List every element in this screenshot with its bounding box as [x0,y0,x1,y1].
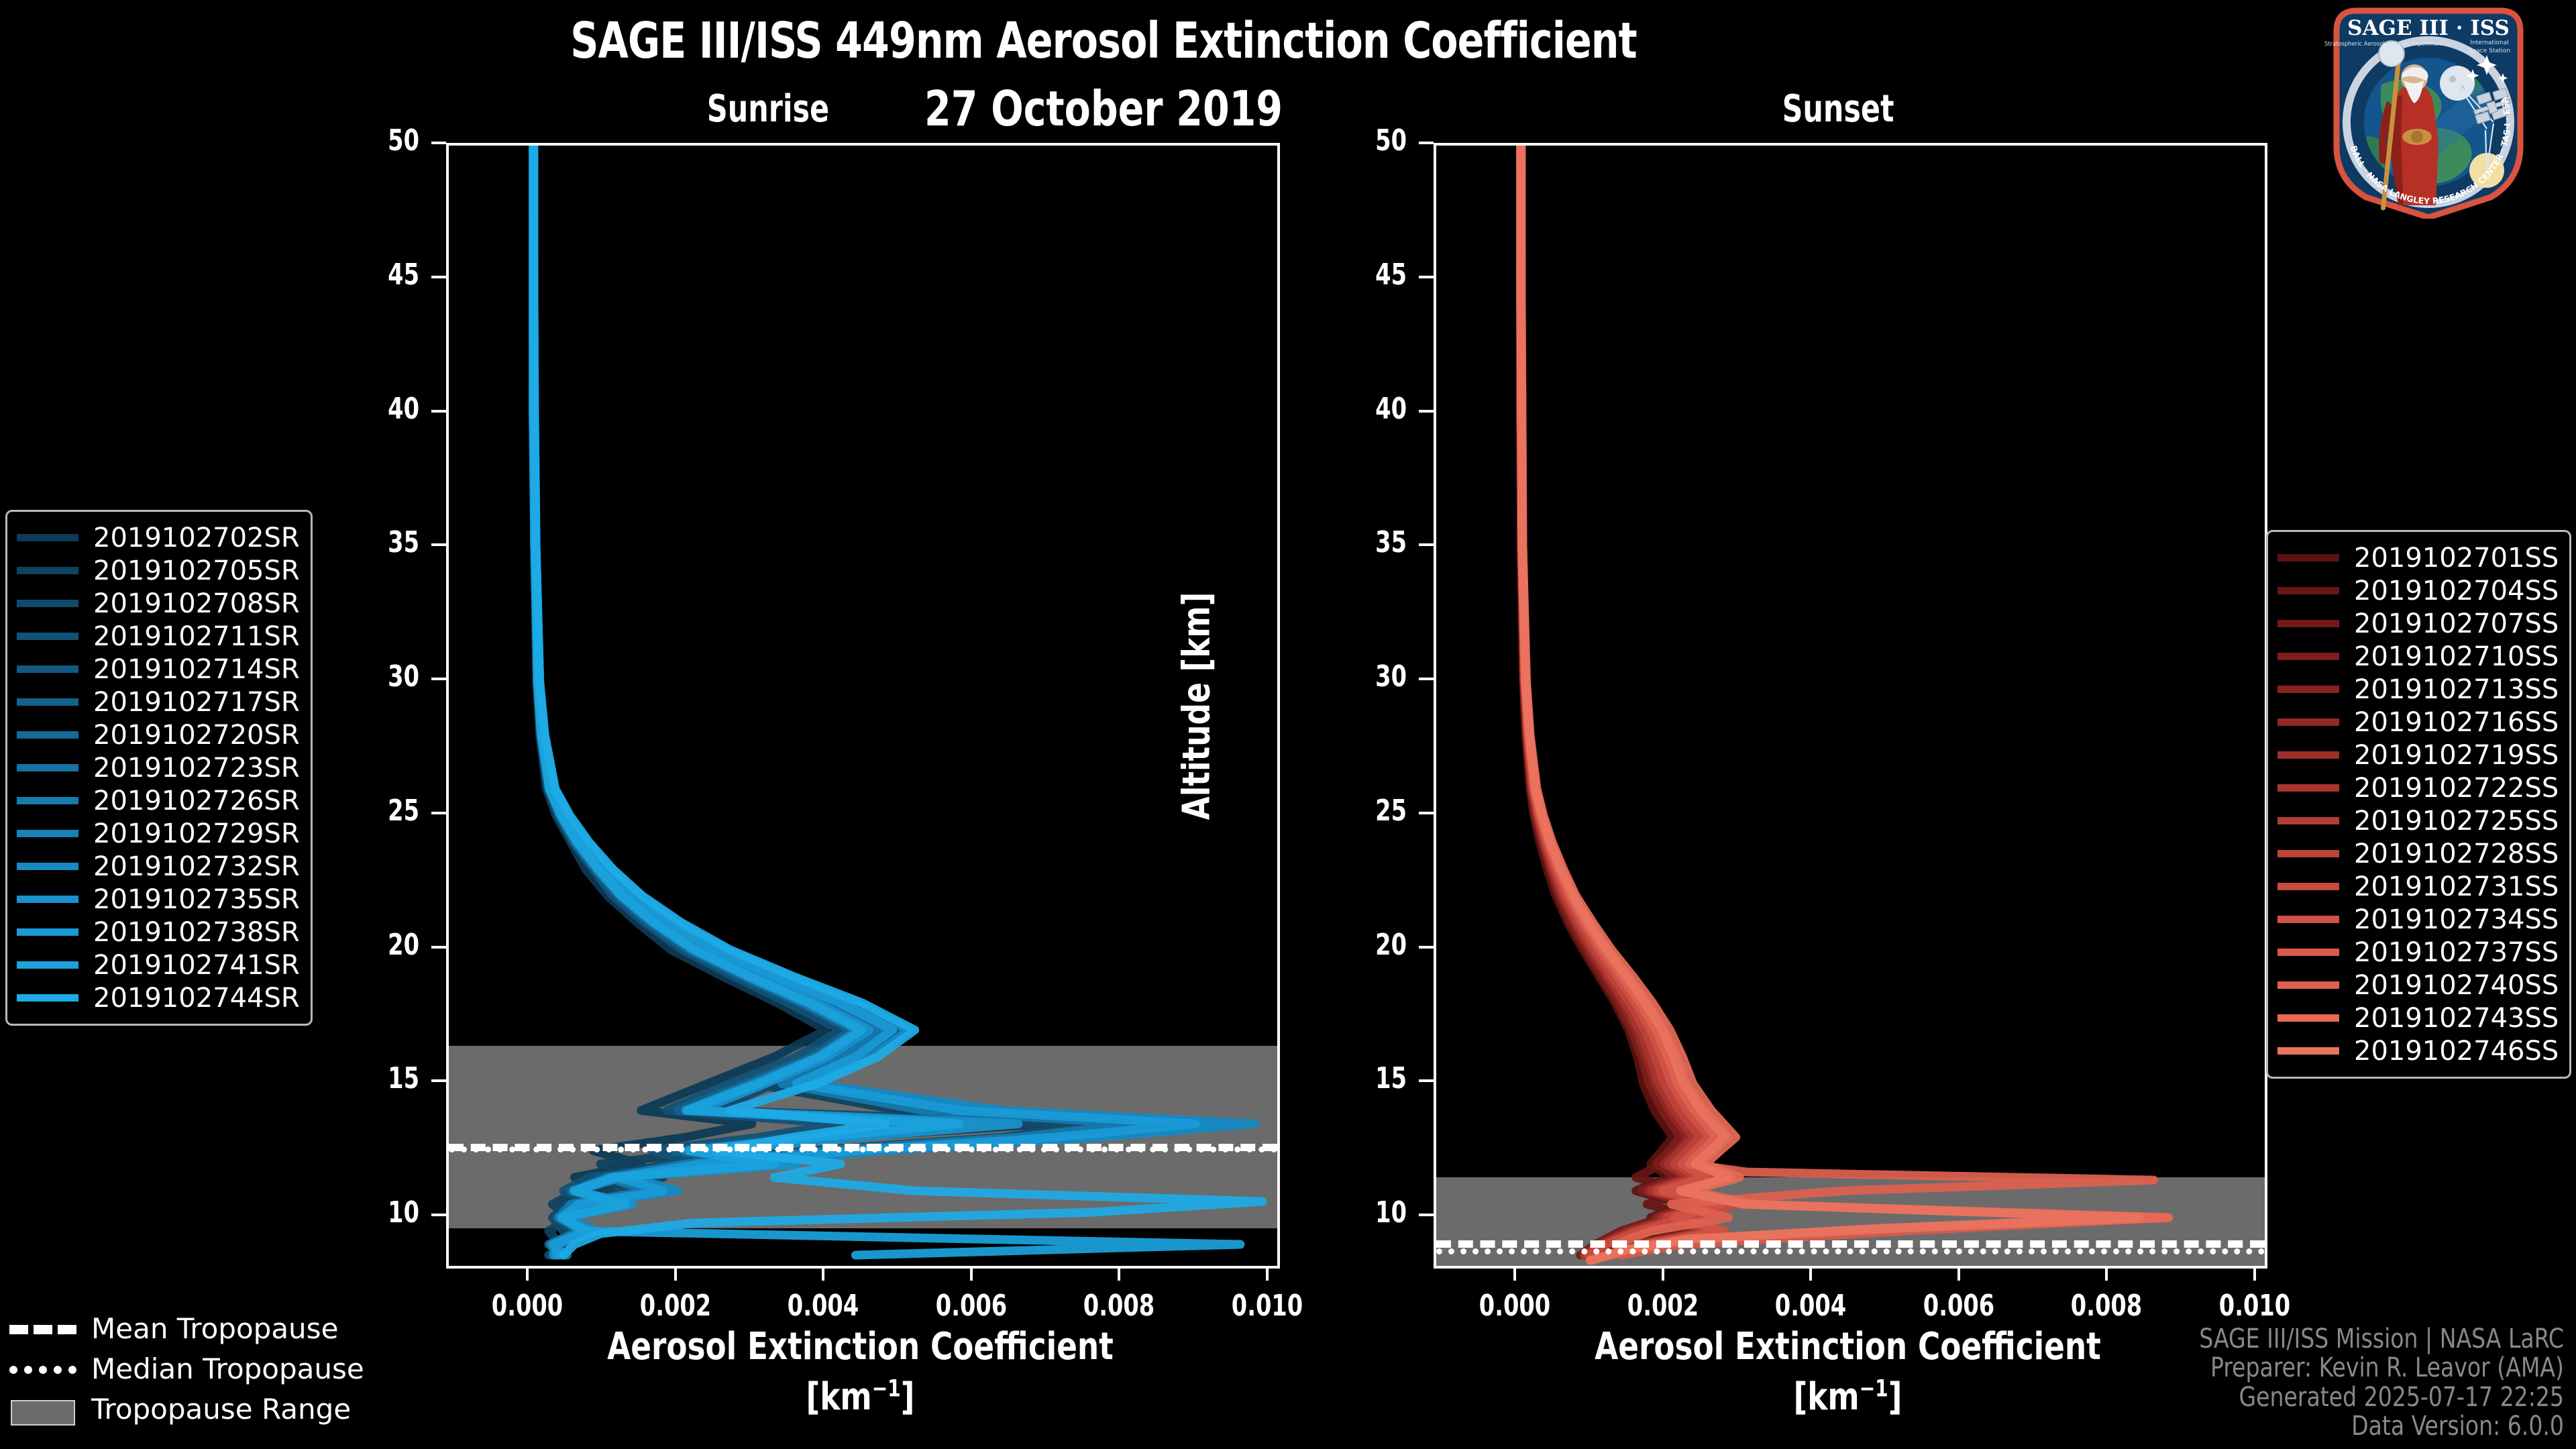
mission-patch-svg: SAGE III · ISS Stratospheric Aerosol and… [2318,4,2539,219]
legend-color-swatch-icon [2277,554,2339,561]
x-tick-mark [674,1266,677,1281]
sunset-legend[interactable]: 2019102701SS2019102704SS2019102707SS2019… [2266,530,2571,1079]
series-line [534,146,1233,1255]
legend-color-swatch-icon [17,633,78,640]
legend-color-swatch-icon [17,994,78,1002]
y-tick-mark [1419,812,1434,814]
x-tick-label: 0.004 [758,1289,890,1323]
sunrise-xaxis-label: Aerosol Extinction Coefficient [488,1325,1234,1368]
y-tick-label: 40 [1322,392,1407,426]
legend-item-sunrise-event[interactable]: 2019102738SR [17,916,300,949]
sunset-plot-area [1436,146,2265,1266]
legend-color-swatch-icon [17,830,78,837]
gray-box-icon [9,1400,76,1417]
y-tick-label: 35 [1322,525,1407,559]
y-tick-mark [431,1079,446,1082]
x-tick-label: 0.006 [1893,1289,2025,1323]
sunset-plot [1434,143,2267,1269]
series-line [1521,146,2169,1260]
y-tick-mark [1419,1214,1434,1216]
legend-label: 2019102705SR [93,555,300,586]
y-tick-mark [1419,1079,1434,1082]
series-line [1521,146,1737,1255]
legend-color-swatch-icon [2277,817,2339,824]
series-line [1521,146,2169,1255]
legend-label: 2019102701SS [2354,543,2559,574]
y-tick-label: 25 [1322,794,1407,828]
legend-item-mean-tropopause: Mean Tropopause [9,1308,364,1348]
logo-subtitle-right-1: International [2470,40,2508,46]
legend-label: 2019102722SS [2354,773,2559,804]
series-line [534,146,1255,1255]
sunset-xaxis-unit: [km−1] [1475,1375,2221,1419]
mean-tropopause-line [1436,1240,2265,1248]
legend-item-sunset-event[interactable]: 2019102743SS [2277,1002,2559,1034]
x-tick-mark [2105,1266,2108,1281]
y-tick-label: 20 [1322,928,1407,962]
legend-color-swatch-icon [2277,916,2339,923]
series-line [533,146,1240,1255]
y-tick-label: 10 [334,1195,420,1230]
legend-label: 2019102738SR [93,917,300,948]
legend-item-median-tropopause: Median Tropopause [9,1348,364,1389]
y-tick-label: 15 [1322,1061,1407,1095]
legend-color-swatch-icon [2277,718,2339,726]
x-tick-mark [970,1266,973,1281]
legend-item-sunrise-event[interactable]: 2019102732SR [17,850,300,883]
legend-color-swatch-icon [2277,850,2339,857]
y-tick-label: 20 [334,928,420,962]
legend-color-swatch-icon [17,961,78,969]
x-tick-mark [1809,1266,1812,1281]
legend-label: 2019102732SR [93,851,300,882]
sunrise-legend[interactable]: 2019102702SR2019102705SR2019102708SR2019… [5,510,313,1026]
legend-item-sunset-event[interactable]: 2019102713SS [2277,673,2559,706]
y-tick-label: 45 [1322,258,1407,292]
legend-color-swatch-icon [17,534,78,541]
y-tick-mark [431,276,446,278]
legend-label: 2019102708SR [93,588,300,619]
y-tick-label: 40 [334,392,420,426]
legend-item-sunset-event[interactable]: 2019102725SS [2277,804,2559,837]
sage-iii-iss-mission-patch-logo: SAGE III · ISS Stratospheric Aerosol and… [2318,4,2539,219]
y-tick-mark [431,410,446,413]
legend-item-sunrise-event[interactable]: 2019102708SR [17,587,300,620]
legend-label: 2019102746SS [2354,1036,2559,1067]
legend-item-sunrise-event[interactable]: 2019102702SR [17,521,300,554]
legend-item-sunset-event[interactable]: 2019102746SS [2277,1034,2559,1067]
legend-item-sunrise-event[interactable]: 2019102735SR [17,883,300,916]
legend-label: 2019102710SS [2354,641,2559,672]
x-tick-label: 0.008 [1054,1289,1185,1323]
legend-label: 2019102716SS [2354,707,2559,738]
y-tick-mark [1419,946,1434,949]
legend-item-sunrise-event[interactable]: 2019102741SR [17,949,300,981]
legend-item-sunset-event[interactable]: 2019102707SS [2277,607,2559,640]
legend-color-swatch-icon [2277,751,2339,759]
sunset-xaxis-label: Aerosol Extinction Coefficient [1475,1325,2221,1368]
legend-color-swatch-icon [17,896,78,903]
y-tick-mark [431,543,446,546]
legend-label: 2019102731SS [2354,871,2559,902]
legend-label: 2019102704SS [2354,576,2559,606]
legend-label: 2019102720SR [93,720,300,751]
y-tick-mark [1419,142,1434,144]
y-tick-label: 35 [334,525,420,559]
logo-title: SAGE III · ISS [2347,16,2510,40]
y-tick-label: 30 [1322,659,1407,694]
legend-label: 2019102723SR [93,753,300,784]
page-title: SAGE III/ISS 449nm Aerosol Extinction Co… [132,12,2074,70]
x-tick-mark [1513,1266,1516,1281]
y-tick-label: 10 [1322,1195,1407,1230]
series-line [1521,146,2154,1244]
x-tick-mark [526,1266,529,1281]
legend-item-sunset-event[interactable]: 2019102719SS [2277,739,2559,771]
y-tick-mark [1419,543,1434,546]
legend-item-tropopause-range: Tropopause Range [9,1389,364,1429]
legend-label: 2019102744SR [93,983,300,1014]
x-tick-label: 0.006 [906,1289,1037,1323]
legend-label: 2019102729SR [93,818,300,849]
legend-label: 2019102734SS [2354,904,2559,935]
legend-label: 2019102737SS [2354,937,2559,968]
y-tick-label: 50 [1322,123,1407,158]
sunrise-plot-area [449,146,1277,1266]
series-canvas [1436,146,2265,1266]
x-tick-mark [1662,1266,1664,1281]
legend-label: 2019102741SR [93,950,300,981]
legend-item-sunset-event[interactable]: 2019102716SS [2277,706,2559,739]
legend-label: 2019102713SS [2354,674,2559,705]
legend-item-sunrise-event[interactable]: 2019102744SR [17,981,300,1014]
x-tick-mark [1118,1266,1120,1281]
legend-item-sunrise-event[interactable]: 2019102714SR [17,653,300,686]
x-tick-label: 0.002 [610,1289,741,1323]
legend-label: 2019102719SS [2354,740,2559,771]
legend-item-sunset-event[interactable]: 2019102740SS [2277,969,2559,1002]
series-line [534,146,1263,1255]
legend-label-mean-tropopause: Mean Tropopause [91,1312,338,1345]
legend-item-sunset-event[interactable]: 2019102737SS [2277,936,2559,969]
legend-color-swatch-icon [2277,784,2339,792]
sunset-yaxis-label: Altitude [km] [1175,586,1219,827]
sunrise-xaxis-unit: [km−1] [488,1375,1234,1419]
credit-line-preparer: Preparer: Kevin R. Leavor (AMA) [2199,1354,2564,1383]
legend-item-sunset-event[interactable]: 2019102710SS [2277,640,2559,673]
legend-item-sunset-event[interactable]: 2019102701SS [2277,541,2559,574]
legend-color-swatch-icon [2277,620,2339,627]
credit-line-version: Data Version: 6.0.0 [2199,1412,2564,1441]
legend-item-sunrise-event[interactable]: 2019102705SR [17,554,300,587]
y-tick-mark [431,142,446,144]
legend-item-sunset-event[interactable]: 2019102728SS [2277,837,2559,870]
x-tick-label: 0.008 [2041,1289,2173,1323]
x-tick-label: 0.010 [2189,1289,2320,1323]
x-tick-label: 0.000 [1450,1289,1581,1323]
legend-color-swatch-icon [2277,981,2339,989]
credit-line-mission: SAGE III/ISS Mission | NASA LaRC [2199,1325,2564,1354]
y-tick-label: 45 [334,258,420,292]
legend-color-swatch-icon [2277,587,2339,594]
legend-label: 2019102728SS [2354,839,2559,869]
legend-label: 2019102711SR [93,621,300,652]
legend-item-sunrise-event[interactable]: 2019102729SR [17,817,300,850]
legend-item-sunset-event[interactable]: 2019102731SS [2277,870,2559,903]
y-tick-label: 30 [334,659,420,694]
legend-label-median-tropopause: Median Tropopause [91,1352,364,1385]
y-tick-mark [431,946,446,949]
sunrise-plot [446,143,1280,1269]
legend-color-swatch-icon [17,863,78,870]
legend-label: 2019102702SR [93,523,300,553]
legend-color-swatch-icon [17,764,78,771]
legend-color-swatch-icon [17,600,78,607]
legend-color-swatch-icon [17,928,78,936]
legend-color-swatch-icon [17,567,78,574]
series-canvas [449,146,1277,1266]
legend-label: 2019102740SS [2354,970,2559,1001]
x-tick-mark [2253,1266,2256,1281]
x-tick-label: 0.000 [462,1289,594,1323]
legend-color-swatch-icon [17,797,78,804]
legend-item-sunrise-event[interactable]: 2019102726SR [17,784,300,817]
legend-item-sunset-event[interactable]: 2019102734SS [2277,903,2559,936]
y-tick-label: 15 [334,1061,420,1095]
credits-block: SAGE III/ISS Mission | NASA LaRC Prepare… [2199,1325,2564,1441]
legend-color-swatch-icon [17,665,78,673]
dotted-line-icon [9,1360,76,1377]
x-tick-label: 0.002 [1597,1289,1729,1323]
legend-color-swatch-icon [17,731,78,739]
legend-label: 2019102735SR [93,884,300,915]
median-tropopause-line [1436,1248,2265,1254]
sunrise-panel-title: Sunrise [672,87,865,131]
y-tick-mark [431,812,446,814]
tropopause-legend[interactable]: Mean Tropopause Median Tropopause Tropop… [9,1308,364,1429]
median-tropopause-line [449,1146,1277,1152]
legend-label: 2019102717SR [93,687,300,718]
logo-subtitle-left: Stratospheric Aerosol and Gas Experiment… [2324,40,2451,47]
legend-item-sunrise-event[interactable]: 2019102717SR [17,686,300,718]
legend-label-tropopause-range: Tropopause Range [91,1393,351,1426]
legend-color-swatch-icon [2277,686,2339,693]
dashed-line-icon [9,1320,76,1337]
legend-item-sunset-event[interactable]: 2019102704SS [2277,574,2559,607]
x-tick-mark [1957,1266,1960,1281]
x-tick-mark [822,1266,824,1281]
sunset-panel-title: Sunset [1741,87,1935,131]
legend-color-swatch-icon [17,698,78,706]
legend-color-swatch-icon [2277,949,2339,956]
legend-label: 2019102707SS [2354,608,2559,639]
y-tick-label: 25 [334,794,420,828]
legend-item-sunset-event[interactable]: 2019102722SS [2277,771,2559,804]
legend-label: 2019102725SS [2354,806,2559,837]
legend-label: 2019102726SR [93,786,300,816]
legend-label: 2019102714SR [93,654,300,685]
legend-label: 2019102743SS [2354,1003,2559,1034]
x-tick-mark [1266,1266,1269,1281]
legend-item-sunrise-event[interactable]: 2019102720SR [17,718,300,751]
legend-color-swatch-icon [2277,653,2339,660]
legend-color-swatch-icon [2277,883,2339,890]
y-tick-mark [431,678,446,680]
logo-subtitle-right-2: Space Station [2469,48,2510,54]
credit-line-generated: Generated 2025-07-17 22:25 [2199,1383,2564,1412]
y-tick-mark [1419,410,1434,413]
y-tick-mark [1419,678,1434,680]
series-line [1521,146,2139,1260]
legend-color-swatch-icon [2277,1014,2339,1022]
legend-item-sunrise-event[interactable]: 2019102723SR [17,751,300,784]
legend-color-swatch-icon [2277,1047,2339,1055]
x-tick-label: 0.010 [1201,1289,1333,1323]
legend-item-sunrise-event[interactable]: 2019102711SR [17,620,300,653]
y-tick-mark [431,1214,446,1216]
y-tick-mark [1419,276,1434,278]
x-tick-label: 0.004 [1746,1289,1877,1323]
y-tick-label: 50 [334,123,420,158]
